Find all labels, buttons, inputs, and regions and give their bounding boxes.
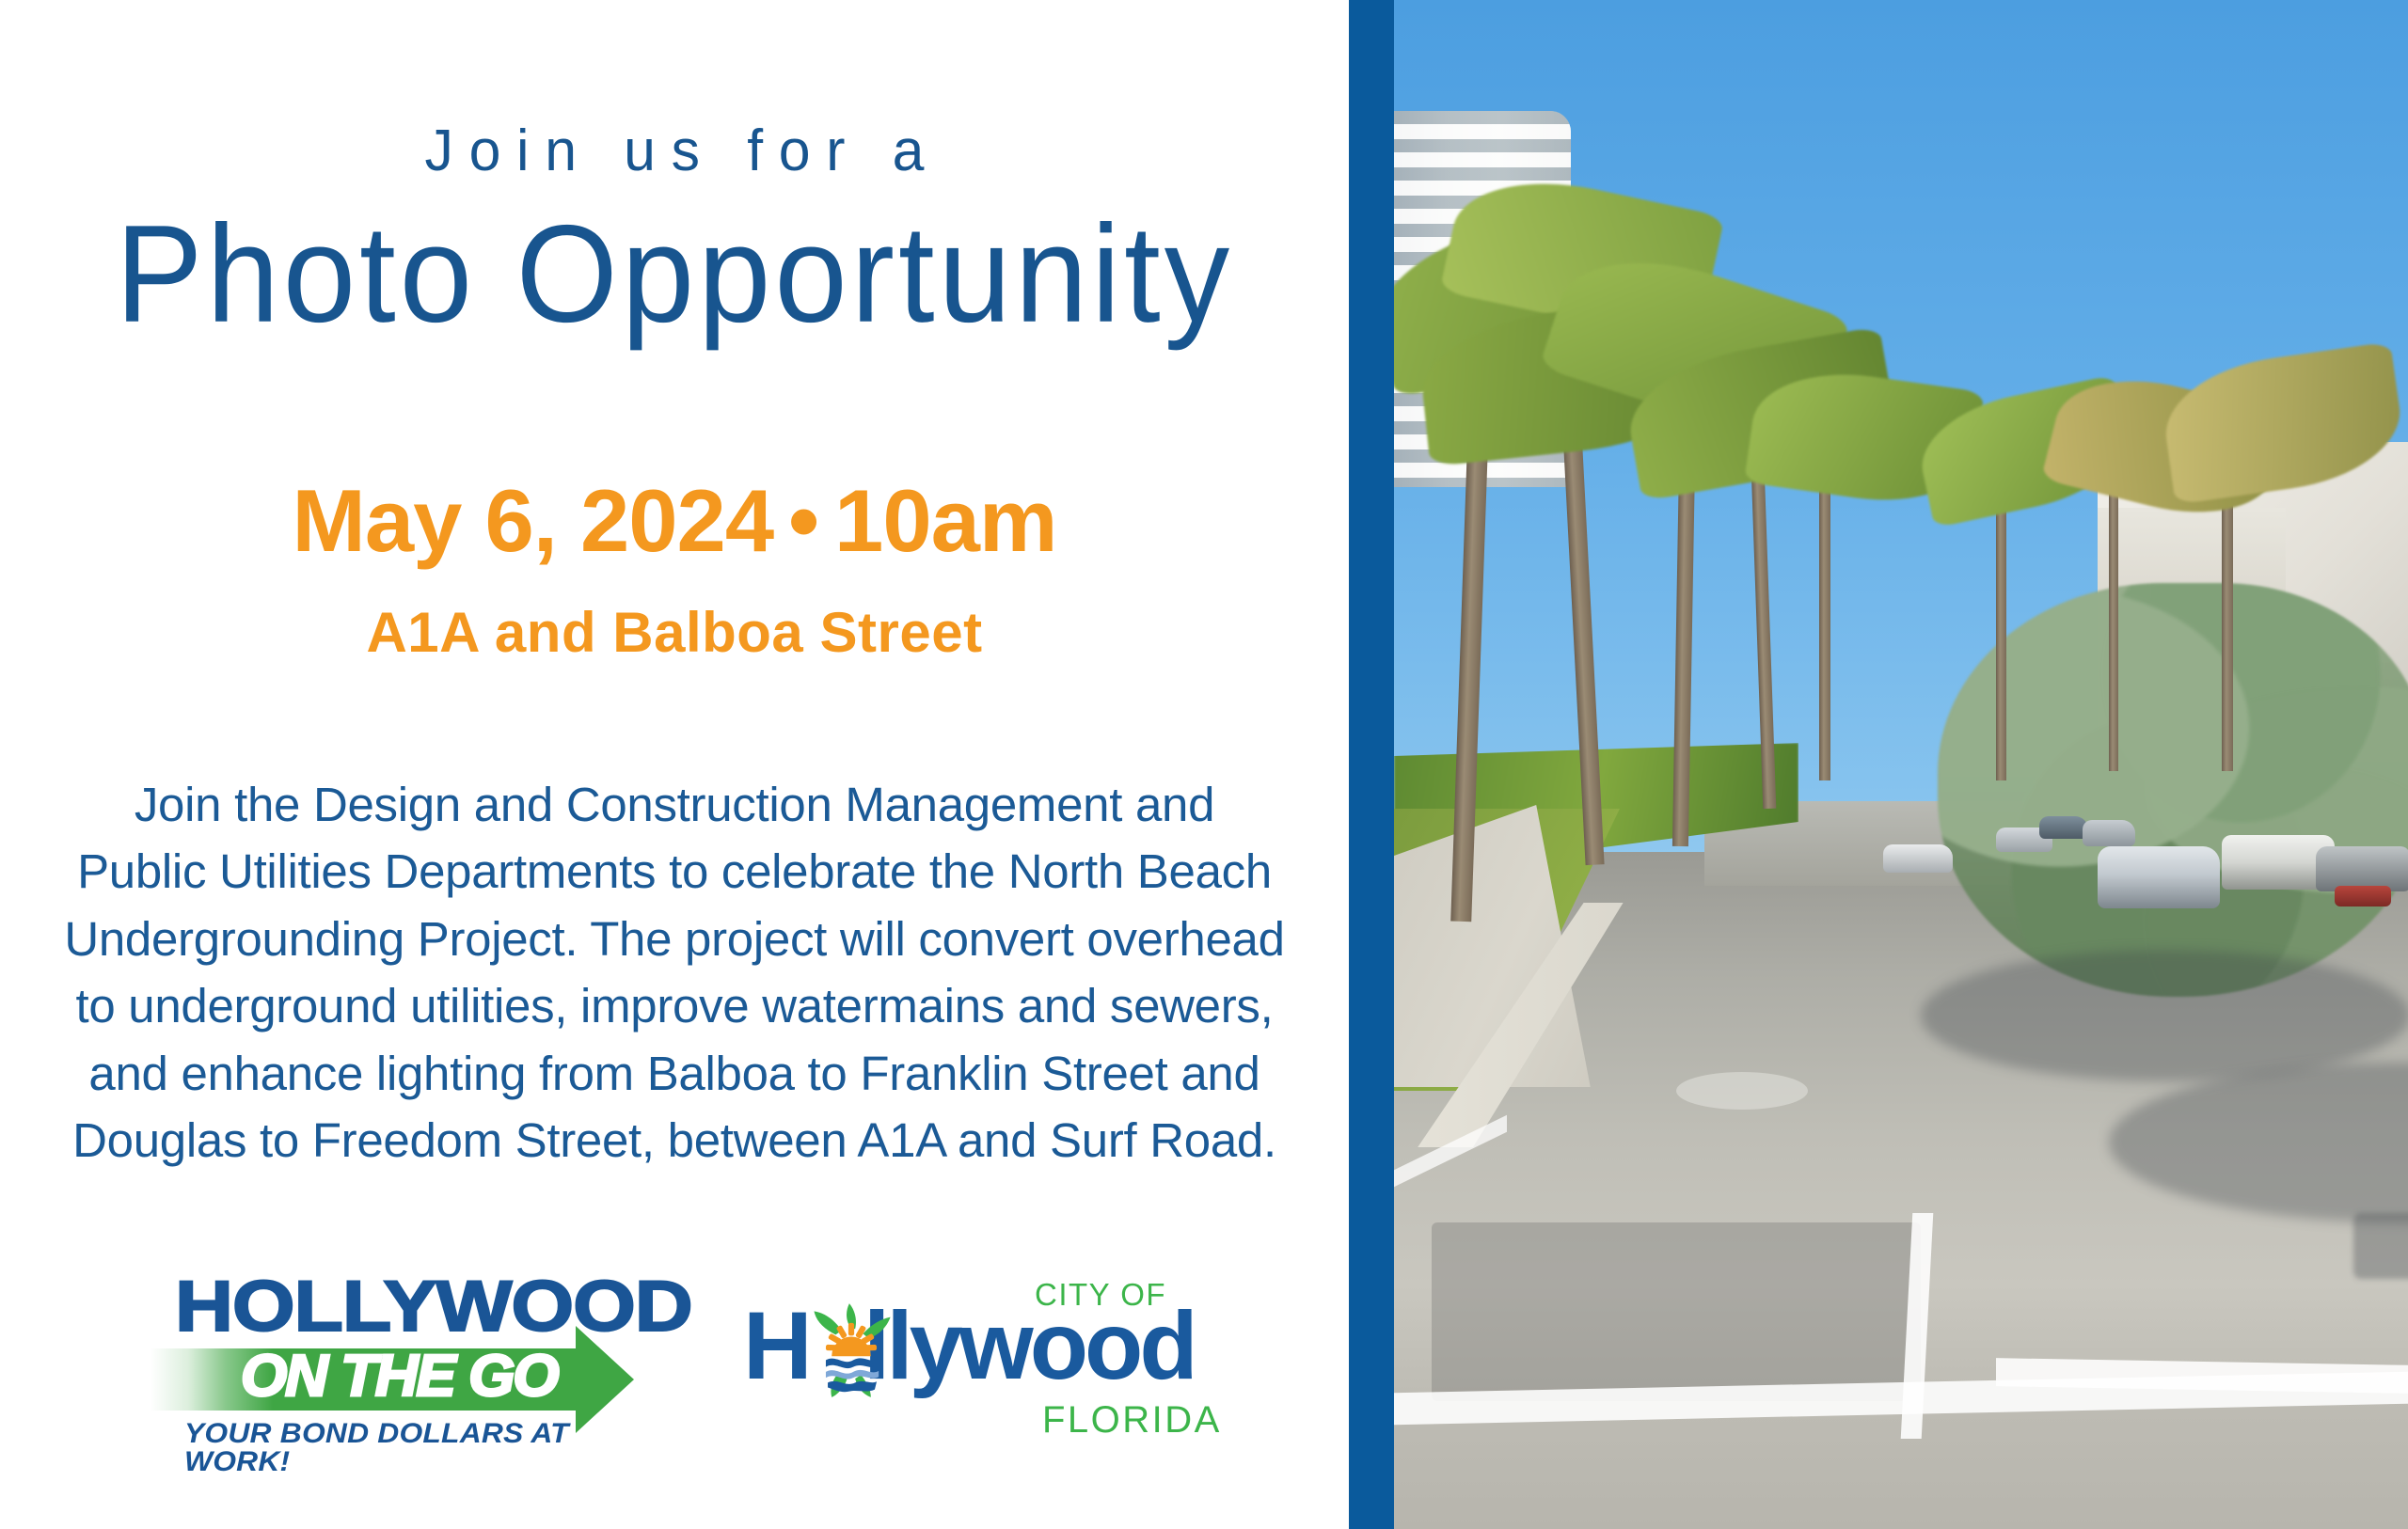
parked-car	[2316, 846, 2408, 891]
green-arrowhead-icon	[576, 1326, 634, 1433]
event-date: May 6, 2024	[293, 471, 774, 570]
logo-row: HOLLYWOOD ON THE GO YOUR BOND DOLLARS AT…	[0, 1264, 1349, 1461]
pavement-patch	[1432, 1222, 1921, 1401]
parked-suv	[2098, 846, 2220, 908]
wordmark-tail: llywood	[863, 1292, 1195, 1399]
eyebrow-text: Join us for a	[13, 122, 1335, 181]
event-time: 10am	[834, 471, 1056, 570]
parked-car	[2039, 816, 2088, 839]
description-line: to underground utilities, improve waterm…	[19, 972, 1330, 1039]
description-line: Join the Design and Construction Managem…	[19, 771, 1330, 838]
right-shrubs	[1938, 583, 2408, 997]
left-text-panel: Join us for a Photo Opportunity May 6, 2…	[0, 0, 1349, 1529]
description-line: Douglas to Freedom Street, between A1A a…	[19, 1107, 1330, 1174]
description-line: Public Utilities Departments to celebrat…	[19, 838, 1330, 905]
pavement-patch	[1676, 1072, 1808, 1110]
palm-trunk	[1996, 470, 2006, 780]
event-description: Join the Design and Construction Managem…	[19, 771, 1330, 1174]
parked-car-red	[2335, 886, 2391, 906]
description-line: and enhance lighting from Balboa to Fran…	[19, 1040, 1330, 1107]
vertical-divider	[1349, 0, 1394, 1529]
event-datetime: May 6, 2024•10am	[0, 475, 1349, 568]
event-location: A1A and Balboa Street	[0, 602, 1349, 664]
sun-palm-wave-emblem-icon	[802, 1301, 900, 1399]
datetime-separator: •	[773, 471, 834, 570]
palm-trunk	[2109, 489, 2118, 771]
description-line: Undergrounding Project. The project will…	[19, 906, 1330, 972]
city-of-hollywood-logo: CITY OF Hollywood	[743, 1273, 1251, 1461]
wordmark-h: H	[743, 1292, 809, 1399]
hollywood-on-the-go-logo: HOLLYWOOD ON THE GO YOUR BOND DOLLARS AT…	[150, 1271, 640, 1456]
street-photo	[1394, 0, 2408, 1529]
tree-shadow	[1921, 950, 2408, 1081]
bond-tagline: YOUR BOND DOLLARS AT WORK!	[184, 1420, 667, 1476]
pole-shadow	[2353, 1213, 2408, 1279]
parked-car	[1883, 844, 1953, 873]
on-the-go-text: ON THE GO	[241, 1345, 558, 1409]
parked-car	[2083, 820, 2135, 846]
florida-label: FLORIDA	[1042, 1401, 1222, 1439]
page-title: Photo Opportunity	[0, 193, 1349, 356]
photo-opportunity-flyer: Join us for a Photo Opportunity May 6, 2…	[0, 0, 2408, 1529]
